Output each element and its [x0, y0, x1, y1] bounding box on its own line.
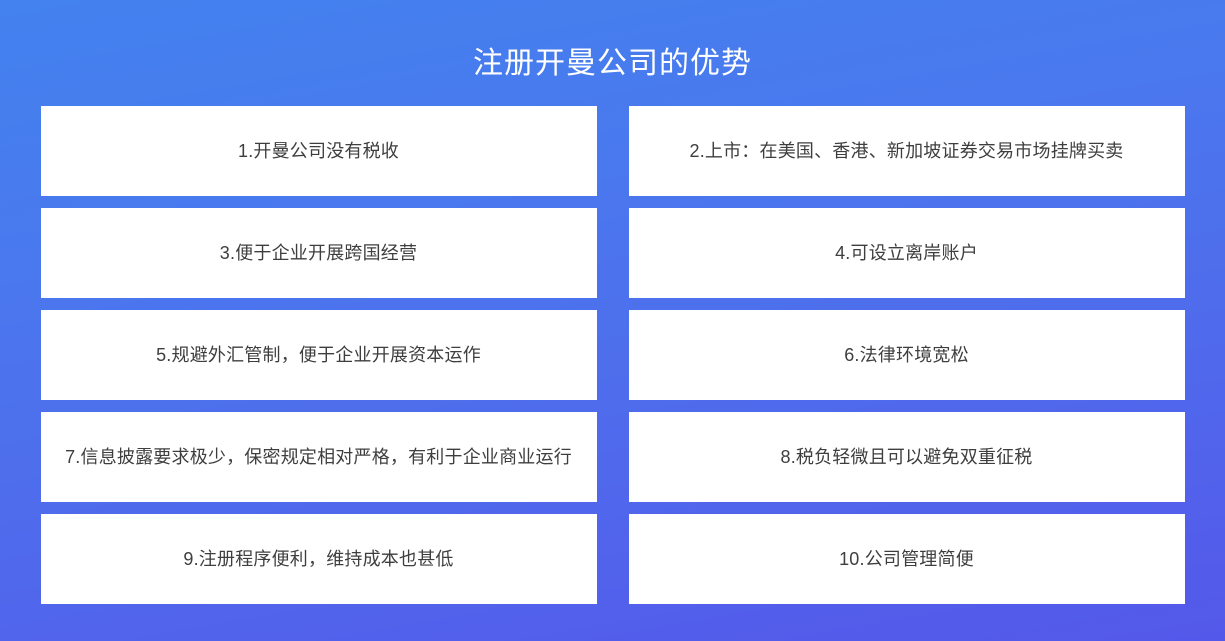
advantage-card-text: 7.信息披露要求极少，保密规定相对严格，有利于企业商业运行 [65, 444, 572, 470]
advantage-card-text: 5.规避外汇管制，便于企业开展资本运作 [156, 342, 481, 368]
page-title: 注册开曼公司的优势 [473, 0, 752, 84]
advantage-card-3: 3.便于企业开展跨国经营 [41, 208, 597, 298]
advantage-card-1: 1.开曼公司没有税收 [41, 106, 597, 196]
advantage-card-text: 6.法律环境宽松 [844, 342, 969, 368]
advantage-card-5: 5.规避外汇管制，便于企业开展资本运作 [41, 310, 597, 400]
advantage-card-text: 3.便于企业开展跨国经营 [220, 240, 417, 266]
advantage-card-text: 2.上市：在美国、香港、新加坡证券交易市场挂牌买卖 [689, 138, 1123, 164]
advantage-card-6: 6.法律环境宽松 [629, 310, 1185, 400]
advantage-card-4: 4.可设立离岸账户 [629, 208, 1185, 298]
advantage-card-text: 4.可设立离岸账户 [835, 240, 978, 266]
advantage-card-2: 2.上市：在美国、香港、新加坡证券交易市场挂牌买卖 [629, 106, 1185, 196]
advantage-card-9: 9.注册程序便利，维持成本也甚低 [41, 514, 597, 604]
advantage-card-grid: 1.开曼公司没有税收 2.上市：在美国、香港、新加坡证券交易市场挂牌买卖 3.便… [41, 106, 1185, 604]
advantage-card-text: 8.税负轻微且可以避免双重征税 [780, 444, 1032, 470]
advantage-card-8: 8.税负轻微且可以避免双重征税 [629, 412, 1185, 502]
advantage-card-10: 10.公司管理简便 [629, 514, 1185, 604]
advantage-card-text: 9.注册程序便利，维持成本也甚低 [183, 546, 453, 572]
advantages-poster: 注册开曼公司的优势 1.开曼公司没有税收 2.上市：在美国、香港、新加坡证券交易… [0, 0, 1225, 641]
advantage-card-7: 7.信息披露要求极少，保密规定相对严格，有利于企业商业运行 [41, 412, 597, 502]
advantage-card-text: 10.公司管理简便 [839, 546, 974, 572]
advantage-card-text: 1.开曼公司没有税收 [238, 138, 399, 164]
